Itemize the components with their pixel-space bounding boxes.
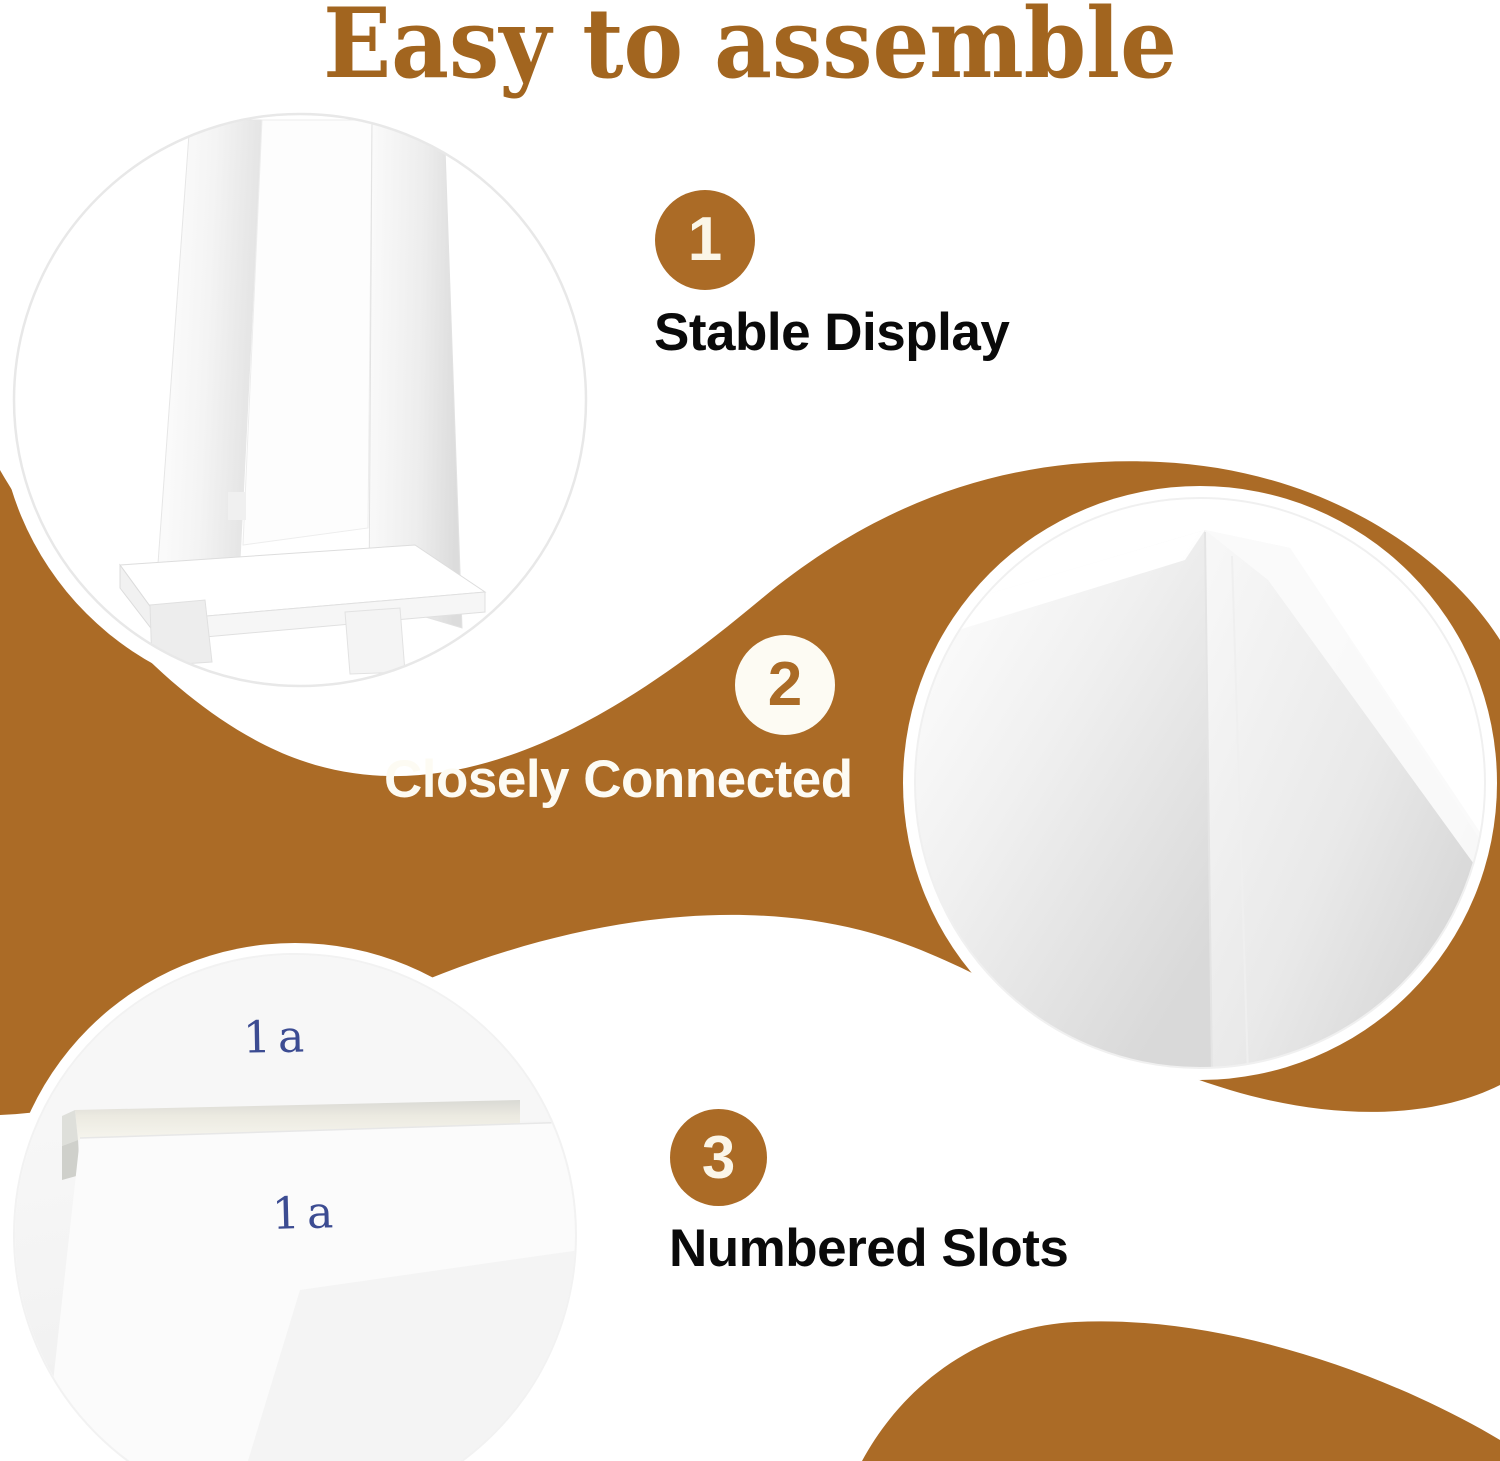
step-1: 1 Stable Display [640,180,1060,370]
step-2: 2 Closely Connected [370,628,870,818]
photo-stable-display [0,98,602,702]
step-1-number-badge: 1 [655,190,755,290]
step-3-label: Numbered Slots [669,1222,1068,1275]
slot-mark-top: 1a [243,1015,312,1060]
photo-closely-connected [900,486,1500,1080]
step-2-number-badge: 2 [735,635,835,735]
step-3: 3 Numbered Slots [655,1100,1095,1290]
page-title: Easy to assemble [53,0,1448,95]
step-1-label: Stable Display [654,306,1009,359]
step-2-label: Closely Connected [384,753,853,806]
slot-mark-bottom: 1a [271,1191,340,1237]
brown-wedge-bottom [862,1321,1500,1461]
infographic-canvas: Easy to assemble 1a 1a 1 Stable Display … [0,0,1500,1461]
step-3-number-badge: 3 [670,1109,767,1206]
